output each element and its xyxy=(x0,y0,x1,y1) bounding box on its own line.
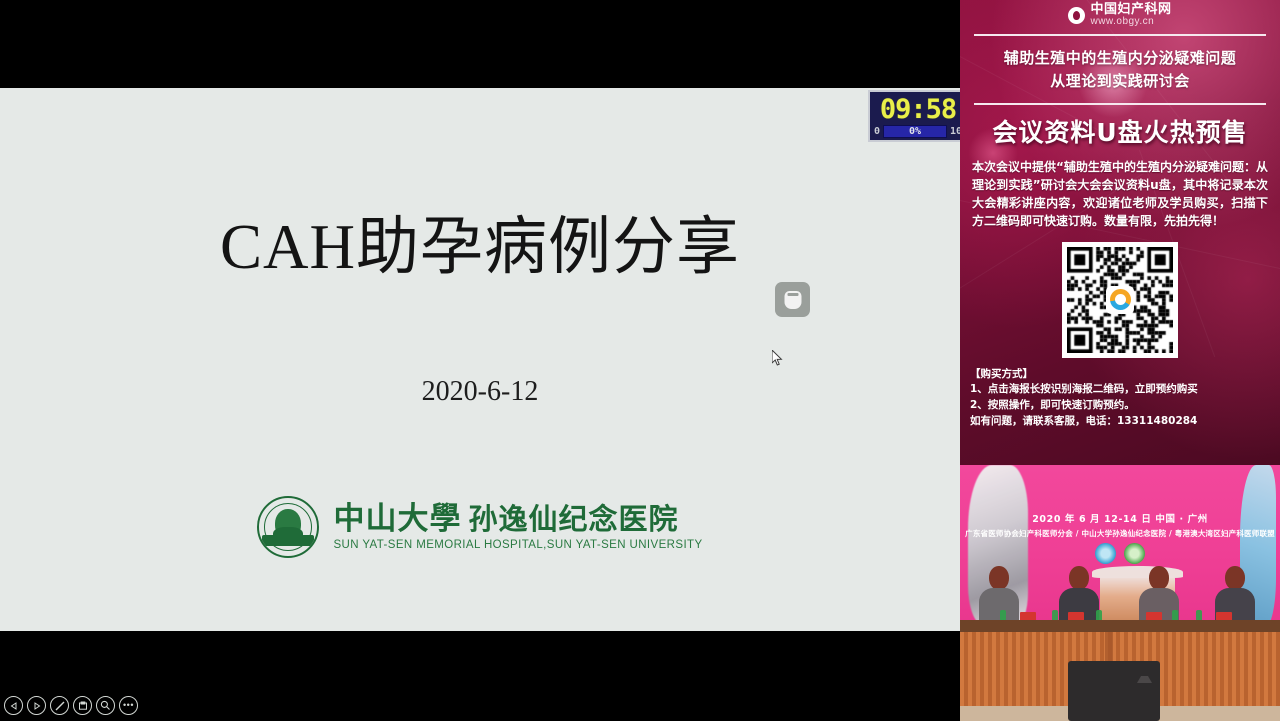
poster-divider-top xyxy=(974,34,1266,36)
university-seal-icon xyxy=(257,496,319,558)
slide-title: CAH助孕病例分享 xyxy=(0,216,960,279)
slide-date: 2020-6-12 xyxy=(0,376,960,408)
poster-divider-bottom xyxy=(974,103,1266,105)
next-slide-button[interactable] xyxy=(27,696,46,715)
prev-slide-button[interactable] xyxy=(4,696,23,715)
zoom-button[interactable] xyxy=(96,696,115,715)
usb-overlay-button[interactable] xyxy=(775,282,810,317)
logo-english-name: SUN YAT-SEN MEMORIAL HOSPITAL,SUN YAT-SE… xyxy=(333,539,702,551)
pen-annotate-button[interactable] xyxy=(50,696,69,715)
buy-title: 【购买方式】 xyxy=(970,367,1270,383)
backdrop-organizers-line: 广东省医师协会妇产科医师分会 / 中山大学孙逸仙纪念医院 / 粤港澳大湾区妇产科… xyxy=(960,528,1280,539)
presentation-slide: CAH助孕病例分享 2020-6-12 中山大學孙逸仙纪念医院 SUN YAT-… xyxy=(0,88,960,631)
qr-center-logo-icon xyxy=(1106,286,1134,314)
timer-display: 09:58 xyxy=(872,94,960,124)
brand-url: www.obgy.cn xyxy=(1090,17,1171,27)
slide-viewer[interactable]: CAH助孕病例分享 2020-6-12 中山大學孙逸仙纪念医院 SUN YAT-… xyxy=(0,0,960,721)
timer-progress-bar: 0% xyxy=(883,125,947,138)
ellipsis-icon: ••• xyxy=(123,701,134,710)
usb-drive-icon xyxy=(784,291,801,309)
timer-max-label: 10 xyxy=(950,126,960,137)
qr-code-wrap[interactable] xyxy=(960,242,1280,358)
poster-heading-line1: 辅助生殖中的生殖内分泌疑难问题 xyxy=(960,47,1280,70)
timer-percent-label: 0% xyxy=(909,126,921,137)
qr-code[interactable] xyxy=(1062,242,1178,358)
timer-min-label: 0 xyxy=(874,126,880,137)
conference-table xyxy=(960,620,1280,632)
poster-kicker: 会议资料U盘火热预售 xyxy=(960,113,1280,149)
countdown-timer[interactable]: 09:58 0 0% 10 xyxy=(868,90,960,142)
obgy-logo-icon xyxy=(1068,7,1085,24)
poster-heading: 辅助生殖中的生殖内分泌疑难问题 从理论到实践研讨会 xyxy=(960,47,1280,94)
poster-body-text: 本次会议中提供“辅助生殖中的生殖内分泌疑难问题：从理论到实践”研讨会大会会议资料… xyxy=(972,158,1268,230)
buy-contact: 如有问题，请联系客服，电话：13311480284 xyxy=(970,414,1270,430)
poster-brand: 中国妇产科网 www.obgy.cn xyxy=(960,0,1280,30)
slides-panel-button[interactable] xyxy=(73,696,92,715)
right-sidebar: 中国妇产科网 www.obgy.cn 辅助生殖中的生殖内分泌疑难问题 从理论到实… xyxy=(960,0,1280,721)
slide-toolbar[interactable]: ••• xyxy=(4,696,138,715)
logo-university-name: 中山大學 xyxy=(333,501,461,537)
logo-hospital-name: 孙逸仙纪念医院 xyxy=(468,502,678,536)
buy-step-1: 1、点击海报长按识别海报二维码，立即预约购买 xyxy=(970,382,1270,398)
poster-heading-line2: 从理论到实践研讨会 xyxy=(960,70,1280,93)
floor-monitor xyxy=(1068,661,1160,721)
backdrop-date-line: 2020 年 6 月 12-14 日 中国 · 广州 xyxy=(960,511,1280,525)
promo-poster[interactable]: 中国妇产科网 www.obgy.cn 辅助生殖中的生殖内分泌疑难问题 从理论到实… xyxy=(960,0,1280,465)
buy-step-2: 2、按照操作，即可快速订购预约。 xyxy=(970,398,1270,414)
purchase-instructions: 【购买方式】 1、点击海报长按识别海报二维码，立即预约购买 2、按照操作，即可快… xyxy=(970,367,1270,430)
live-video-feed[interactable]: 2020 年 6 月 12-14 日 中国 · 广州 广东省医师协会妇产科医师分… xyxy=(960,465,1280,721)
hospital-logo: 中山大學孙逸仙纪念医院 SUN YAT-SEN MEMORIAL HOSPITA… xyxy=(0,496,960,558)
more-options-button[interactable]: ••• xyxy=(119,696,138,715)
mouse-cursor xyxy=(772,350,783,366)
brand-name: 中国妇产科网 xyxy=(1090,3,1171,16)
screen: CAH助孕病例分享 2020-6-12 中山大學孙逸仙纪念医院 SUN YAT-… xyxy=(0,0,1280,721)
